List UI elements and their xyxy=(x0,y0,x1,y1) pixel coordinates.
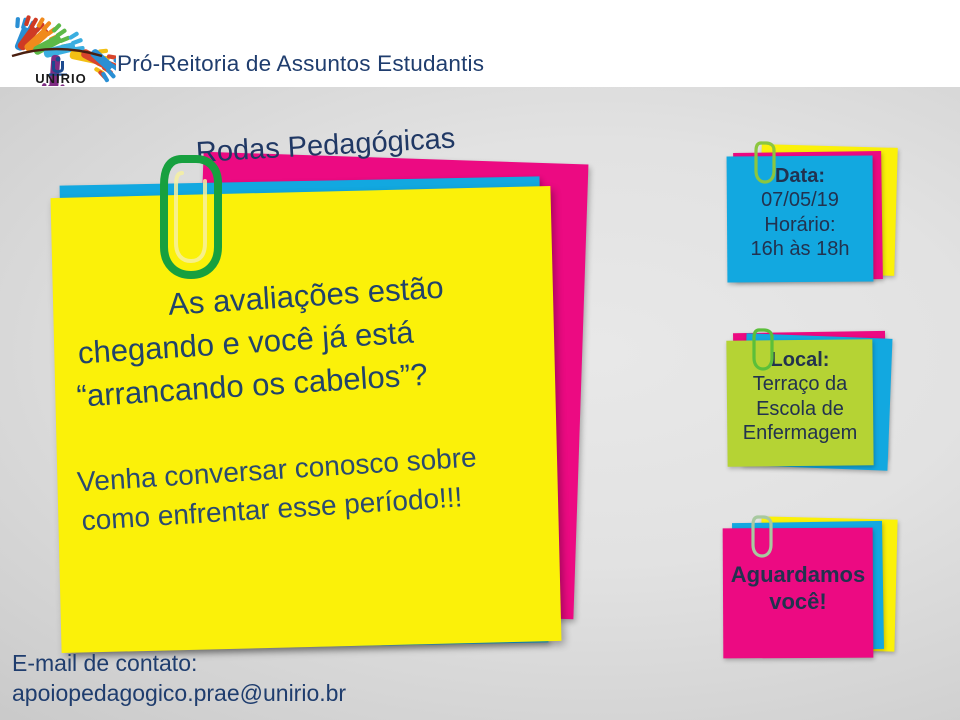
unirio-hands-logo: UNIRIO xyxy=(6,2,116,86)
side-note-2-line-1: Terraço da xyxy=(727,372,873,396)
side-note-1-text: Data: 07/05/19 Horário: 16h às 18h xyxy=(727,164,873,262)
paperclip-icon xyxy=(158,143,230,298)
poster-canvas: UNIRIO Pró-Reitoria de Assuntos Estudant… xyxy=(0,0,960,720)
side-note-3-line-2: você! xyxy=(723,589,873,616)
header-title: Pró-Reitoria de Assuntos Estudantis xyxy=(117,53,484,76)
side-note-3-text: Aguardamos você! xyxy=(723,562,873,616)
paperclip-icon-2 xyxy=(752,325,774,378)
side-note-2-line-3: Enfermagem xyxy=(727,421,873,445)
side-note-1-line-3: 16h às 18h xyxy=(727,237,873,261)
side-note-2-line-2: Escola de xyxy=(727,397,873,421)
side-note-2-heading: Local: xyxy=(727,348,873,372)
side-note-3-line-1: Aguardamos xyxy=(723,562,873,589)
main-sheet-yellow xyxy=(51,186,562,653)
header-bar: UNIRIO Pró-Reitoria de Assuntos Estudant… xyxy=(0,0,960,87)
paperclip-icon-3 xyxy=(751,512,773,565)
side-note-1-line-2: Horário: xyxy=(727,213,873,237)
contact-email-address[interactable]: apoiopedagogico.prae@unirio.br xyxy=(12,678,346,708)
contact-email-label: E-mail de contato: xyxy=(12,648,346,678)
side-note-1-line-1: 07/05/19 xyxy=(727,188,873,212)
contact-email-block: E-mail de contato: apoiopedagogico.prae@… xyxy=(12,648,346,709)
svg-text:UNIRIO: UNIRIO xyxy=(35,71,87,86)
paperclip-icon-1 xyxy=(754,138,776,191)
side-note-1-heading: Data: xyxy=(727,164,873,188)
side-note-2-text: Local: Terraço da Escola de Enfermagem xyxy=(727,348,873,446)
